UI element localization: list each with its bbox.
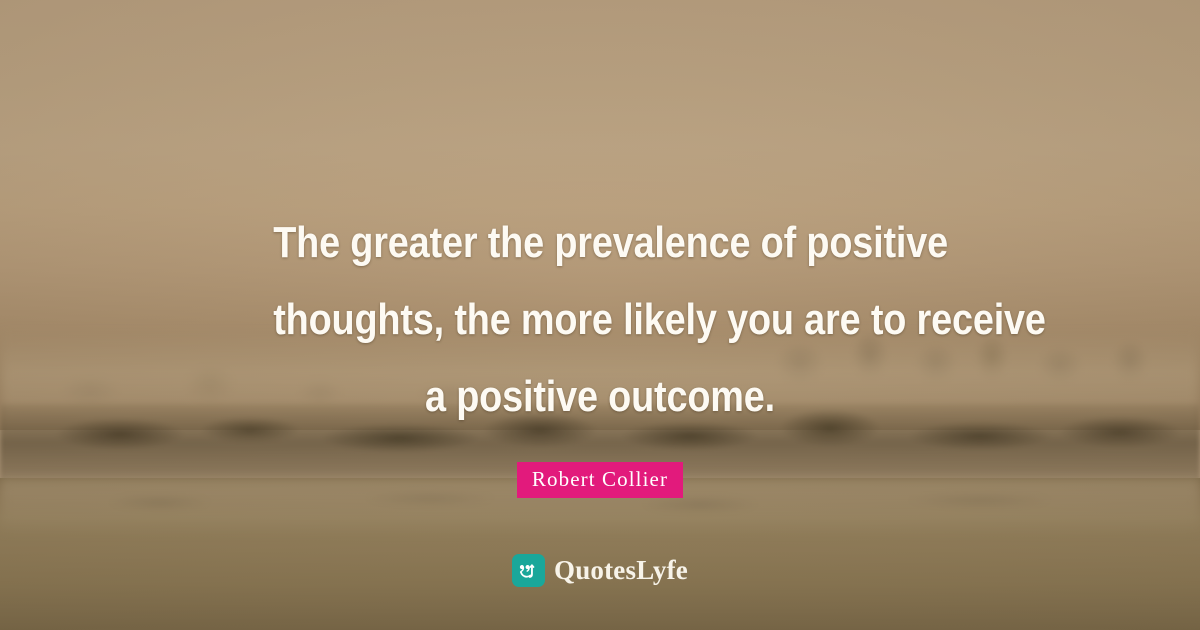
quote-line-3: a positive outcome. [273, 358, 927, 435]
quote-line-1: The greater the prevalence of positive [273, 204, 927, 281]
quote-text-block: The greater the prevalence of positive t… [220, 204, 980, 435]
card-content: The greater the prevalence of positive t… [0, 0, 1200, 630]
quoteslyfe-wordmark: QuotesLyfe [554, 557, 688, 584]
quote-smiley-icon [512, 554, 545, 587]
quoteslyfe-logo[interactable]: QuotesLyfe [512, 554, 688, 587]
author-badge[interactable]: Robert Collier [517, 462, 683, 498]
quote-line-2: thoughts, the more likely you are to rec… [273, 281, 927, 358]
quote-card: The greater the prevalence of positive t… [0, 0, 1200, 630]
